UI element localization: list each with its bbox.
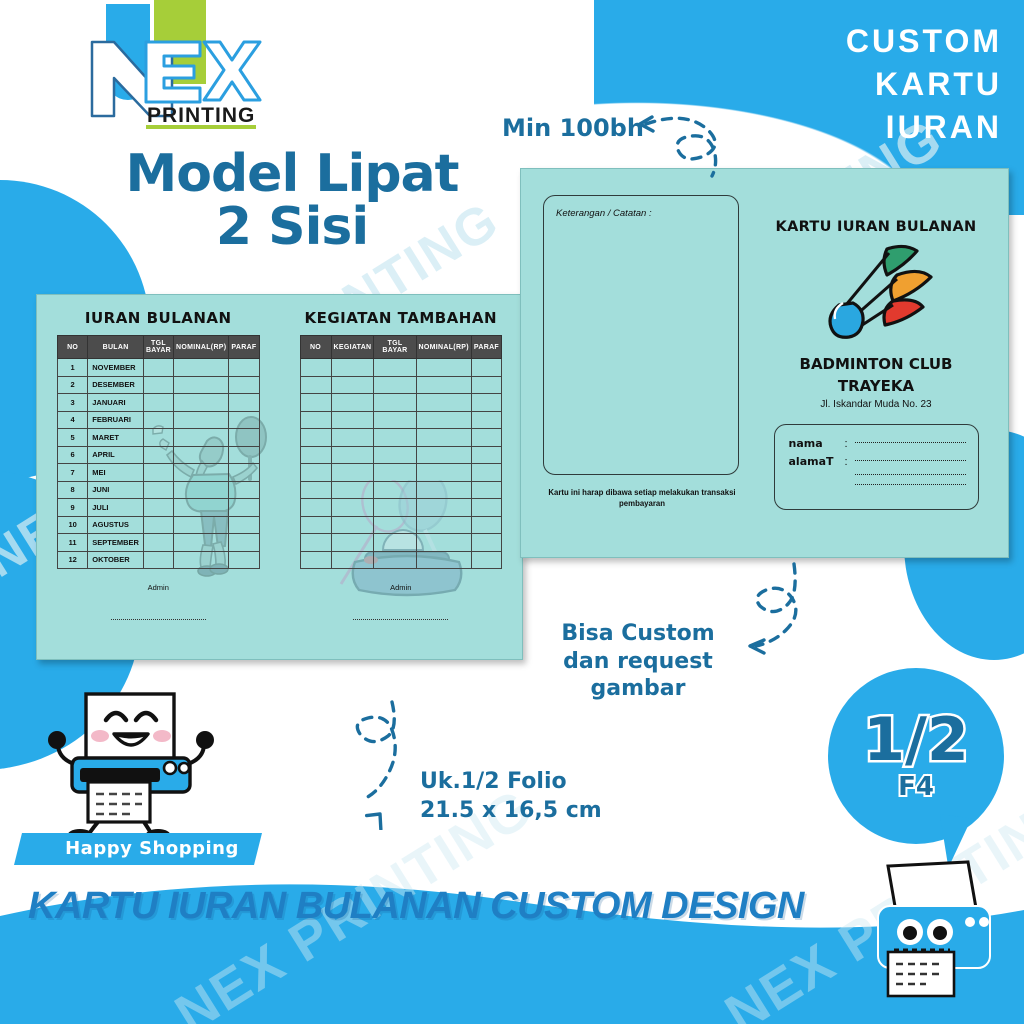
table-cell: 3 [58, 394, 88, 412]
card-cover-preview: Keterangan / Catatan : Kartu ini harap d… [520, 168, 1009, 558]
printer-mascot-bottom-icon [830, 860, 1020, 1000]
annotation-custom-line-3: gambar [548, 675, 728, 703]
annotation-custom-request: Bisa Custom dan request gambar [548, 620, 728, 703]
table-cell [300, 464, 331, 482]
field-colon: : [845, 456, 855, 468]
table-cell [174, 376, 229, 394]
arrow-min-order-icon [638, 108, 748, 198]
table-cell [416, 446, 471, 464]
table-cell [374, 499, 416, 517]
table-column-header: NOMINAL(RP) [174, 336, 229, 359]
table-row: 6APRIL [58, 446, 260, 464]
table-cell [416, 411, 471, 429]
table-cell [331, 481, 374, 499]
club-name-line-2: TRAYEKA [761, 378, 991, 396]
table-row: 1NOVEMBER [58, 359, 260, 377]
table-cell [229, 429, 259, 447]
table-cell [374, 376, 416, 394]
table-cell [374, 429, 416, 447]
top-label-line-1: CUSTOM [742, 20, 1002, 63]
table-cell [229, 499, 259, 517]
table-column-header: BULAN [88, 336, 144, 359]
table-cell [300, 411, 331, 429]
table-cell [300, 499, 331, 517]
table-cell: SEPTEMBER [88, 534, 144, 552]
table-cell: 11 [58, 534, 88, 552]
signature-line-left [111, 618, 206, 620]
happy-shopping-label: Happy Shopping [52, 838, 252, 859]
table-cell [300, 446, 331, 464]
table-cell [471, 481, 501, 499]
table-cell [331, 534, 374, 552]
table-cell [374, 359, 416, 377]
table-cell [174, 394, 229, 412]
club-address: Jl. Iskandar Muda No. 23 [761, 399, 991, 410]
card-cover-right-panel: KARTU IURAN BULANAN BADMINTON CLUB TRAYE… [761, 191, 991, 531]
table-cell [143, 516, 173, 534]
table-cell [471, 429, 501, 447]
badge-small-text: F4 [898, 772, 934, 802]
table-cell [300, 551, 331, 569]
table-cell [174, 429, 229, 447]
table-cell [174, 481, 229, 499]
table-cell [416, 551, 471, 569]
shuttlecock-icon [801, 239, 951, 347]
table-cell [331, 411, 374, 429]
table-cell: 6 [58, 446, 88, 464]
table-cell: 8 [58, 481, 88, 499]
table-column-header: KEGIATAN [331, 336, 374, 359]
table-cell [300, 359, 331, 377]
club-name-line-1: BADMINTON CLUB [761, 356, 991, 374]
table-cell [143, 446, 173, 464]
table-cell [174, 446, 229, 464]
table-cell: JANUARI [88, 394, 144, 412]
table-cell [374, 411, 416, 429]
table-cell [229, 516, 259, 534]
table-cell [174, 464, 229, 482]
table-row: 2DESEMBER [58, 376, 260, 394]
table-row [300, 446, 502, 464]
brand-logo: PRINTING [54, 4, 269, 129]
bottom-banner-title: KARTU IURAN BULANAN CUSTOM DESIGN [28, 885, 804, 928]
printer-mascot-icon [26, 690, 236, 840]
field-dots-nama [855, 441, 966, 443]
table-cell [416, 516, 471, 534]
table-row [300, 411, 502, 429]
table-row: 7MEI [58, 464, 260, 482]
card-footer-note: Kartu ini harap dibawa setiap melakukan … [537, 487, 747, 510]
table-cell: 5 [58, 429, 88, 447]
table-cell [416, 534, 471, 552]
table-cell [331, 359, 374, 377]
table-cell: OKTOBER [88, 551, 144, 569]
member-identity-box: nama : alamaT : [774, 424, 979, 510]
table-cell: 10 [58, 516, 88, 534]
table-cell [471, 516, 501, 534]
table-cell [331, 446, 374, 464]
badge-big-text: 1/2 [863, 710, 968, 770]
table-row: 3JANUARI [58, 394, 260, 412]
table-cell [416, 376, 471, 394]
field-label-nama: nama [789, 437, 845, 450]
table-header-row: NOBULANTGL BAYARNOMINAL(RP)PARAF [58, 336, 260, 359]
table-cell [229, 376, 259, 394]
table-row [300, 394, 502, 412]
table-cell: 9 [58, 499, 88, 517]
table-row [300, 499, 502, 517]
table-cell [229, 481, 259, 499]
table-cell [471, 376, 501, 394]
table-cell [471, 359, 501, 377]
table-cell [374, 394, 416, 412]
table-cell [374, 551, 416, 569]
table-cell [143, 534, 173, 552]
table-column-header: TGL BAYAR [143, 336, 173, 359]
table-cell [374, 516, 416, 534]
table-cell [300, 376, 331, 394]
table-cell [416, 499, 471, 517]
annotation-custom-line-2: dan request [548, 648, 728, 676]
table-cell [471, 464, 501, 482]
table-cell: DESEMBER [88, 376, 144, 394]
table-cell [229, 534, 259, 552]
field-dots-extra-2 [855, 483, 966, 485]
table-cell [300, 394, 331, 412]
table-cell [374, 446, 416, 464]
arrow-size-icon [352, 700, 462, 830]
headline-line-2: 2 Sisi [92, 201, 492, 254]
table-cell [300, 429, 331, 447]
table-cell [229, 446, 259, 464]
table-cell [471, 394, 501, 412]
table-cell [174, 499, 229, 517]
size-badge: 1/2 F4 [828, 668, 1004, 844]
table-cell: NOVEMBER [88, 359, 144, 377]
top-right-label: CUSTOM KARTU IURAN [742, 20, 1002, 150]
card-inside-preview: IURAN BULANAN NOBULANTGL BAYARNOMINAL(RP… [36, 294, 523, 660]
keterangan-box: Keterangan / Catatan : [543, 195, 739, 475]
table-column-header: TGL BAYAR [374, 336, 416, 359]
table-cell [374, 464, 416, 482]
field-colon: : [845, 438, 855, 450]
page-title: Model Lipat 2 Sisi [92, 148, 492, 254]
table-cell [416, 464, 471, 482]
table-cell [471, 499, 501, 517]
field-alamat: alamaT : [789, 455, 966, 468]
table-cell: MEI [88, 464, 144, 482]
table-column-header: NOMINAL(RP) [416, 336, 471, 359]
annotation-custom-line-1: Bisa Custom [548, 620, 728, 648]
table-cell: AGUSTUS [88, 516, 144, 534]
table-cell [143, 481, 173, 499]
table-row: 12OKTOBER [58, 551, 260, 569]
table-cell [416, 481, 471, 499]
top-label-line-2: KARTU [742, 63, 1002, 106]
table-cell [143, 499, 173, 517]
table-cell [229, 359, 259, 377]
table-cell [416, 394, 471, 412]
table-cell [331, 429, 374, 447]
table-cell: 1 [58, 359, 88, 377]
headline-line-1: Model Lipat [92, 148, 492, 201]
table-row: 4FEBRUARI [58, 411, 260, 429]
table-cell: FEBRUARI [88, 411, 144, 429]
admin-label-right: Admin [300, 583, 503, 592]
table-cell [471, 411, 501, 429]
table-cell: 4 [58, 411, 88, 429]
table-row [300, 429, 502, 447]
arrow-custom-request-icon [730, 560, 840, 680]
table-title-iuran-bulanan: IURAN BULANAN [57, 309, 260, 327]
table-iuran-bulanan-panel: IURAN BULANAN NOBULANTGL BAYARNOMINAL(RP… [37, 295, 280, 659]
table-row [300, 481, 502, 499]
table-cell [143, 551, 173, 569]
table-cell [331, 376, 374, 394]
table-cell [331, 516, 374, 534]
svg-text:PRINTING: PRINTING [147, 104, 255, 127]
table-cell [416, 429, 471, 447]
table-cell [174, 359, 229, 377]
table-cell [174, 411, 229, 429]
table-header-row: NOKEGIATANTGL BAYARNOMINAL(RP)PARAF [300, 336, 502, 359]
field-dots-alamat [855, 459, 966, 461]
table-cell [174, 551, 229, 569]
table-cell [174, 516, 229, 534]
table-column-header: NO [58, 336, 88, 359]
table-cell [229, 464, 259, 482]
table-cell: 7 [58, 464, 88, 482]
table-cell [300, 481, 331, 499]
table-cell [471, 551, 501, 569]
logo-mark: PRINTING [54, 4, 269, 129]
table-row: 9JULI [58, 499, 260, 517]
table-column-header: PARAF [229, 336, 259, 359]
table-cell [143, 394, 173, 412]
table-cell [416, 359, 471, 377]
table-cell [300, 534, 331, 552]
table-cell: 2 [58, 376, 88, 394]
card-cover-title: KARTU IURAN BULANAN [761, 219, 991, 235]
table-row: 5MARET [58, 429, 260, 447]
table-cell: JUNI [88, 481, 144, 499]
table-cell [229, 551, 259, 569]
table-row [300, 359, 502, 377]
keterangan-label: Keterangan / Catatan : [556, 208, 726, 219]
table-cell: JULI [88, 499, 144, 517]
table-row: 8JUNI [58, 481, 260, 499]
table-kegiatan-tambahan: NOKEGIATANTGL BAYARNOMINAL(RP)PARAF [300, 335, 503, 569]
table-row [300, 376, 502, 394]
table-cell [331, 394, 374, 412]
table-cell [331, 499, 374, 517]
table-cell [143, 359, 173, 377]
table-cell [143, 464, 173, 482]
field-label-alamat: alamaT [789, 455, 845, 468]
table-title-kegiatan-tambahan: KEGIATAN TAMBAHAN [300, 309, 503, 327]
table-iuran-bulanan: NOBULANTGL BAYARNOMINAL(RP)PARAF 1NOVEMB… [57, 335, 260, 569]
table-cell [229, 411, 259, 429]
table-cell: MARET [88, 429, 144, 447]
table-cell [471, 446, 501, 464]
admin-label-left: Admin [57, 583, 260, 592]
table-row: 11SEPTEMBER [58, 534, 260, 552]
table-kegiatan-tambahan-panel: KEGIATAN TAMBAHAN NOKEGIATANTGL BAYARNOM… [280, 295, 523, 659]
table-column-header: NO [300, 336, 331, 359]
table-row [300, 534, 502, 552]
table-cell [374, 481, 416, 499]
table-cell: APRIL [88, 446, 144, 464]
table-cell: 12 [58, 551, 88, 569]
signature-line-right [353, 618, 448, 620]
table-cell [331, 464, 374, 482]
table-row [300, 551, 502, 569]
table-cell [143, 429, 173, 447]
table-cell [229, 394, 259, 412]
table-row: 10AGUSTUS [58, 516, 260, 534]
table-cell [374, 534, 416, 552]
table-row [300, 516, 502, 534]
table-row [300, 464, 502, 482]
top-label-line-3: IURAN [742, 106, 1002, 149]
table-cell [471, 534, 501, 552]
table-cell [300, 516, 331, 534]
annotation-min-order: Min 100bh [502, 114, 644, 143]
field-dots-extra-1 [855, 473, 966, 475]
product-listing-image: NEX PRINTING NEX PRINTING NEX PRINTING N… [0, 0, 1024, 1024]
field-nama: nama : [789, 437, 966, 450]
table-cell [174, 534, 229, 552]
table-cell [143, 376, 173, 394]
table-cell [331, 551, 374, 569]
table-column-header: PARAF [471, 336, 501, 359]
table-cell [143, 411, 173, 429]
